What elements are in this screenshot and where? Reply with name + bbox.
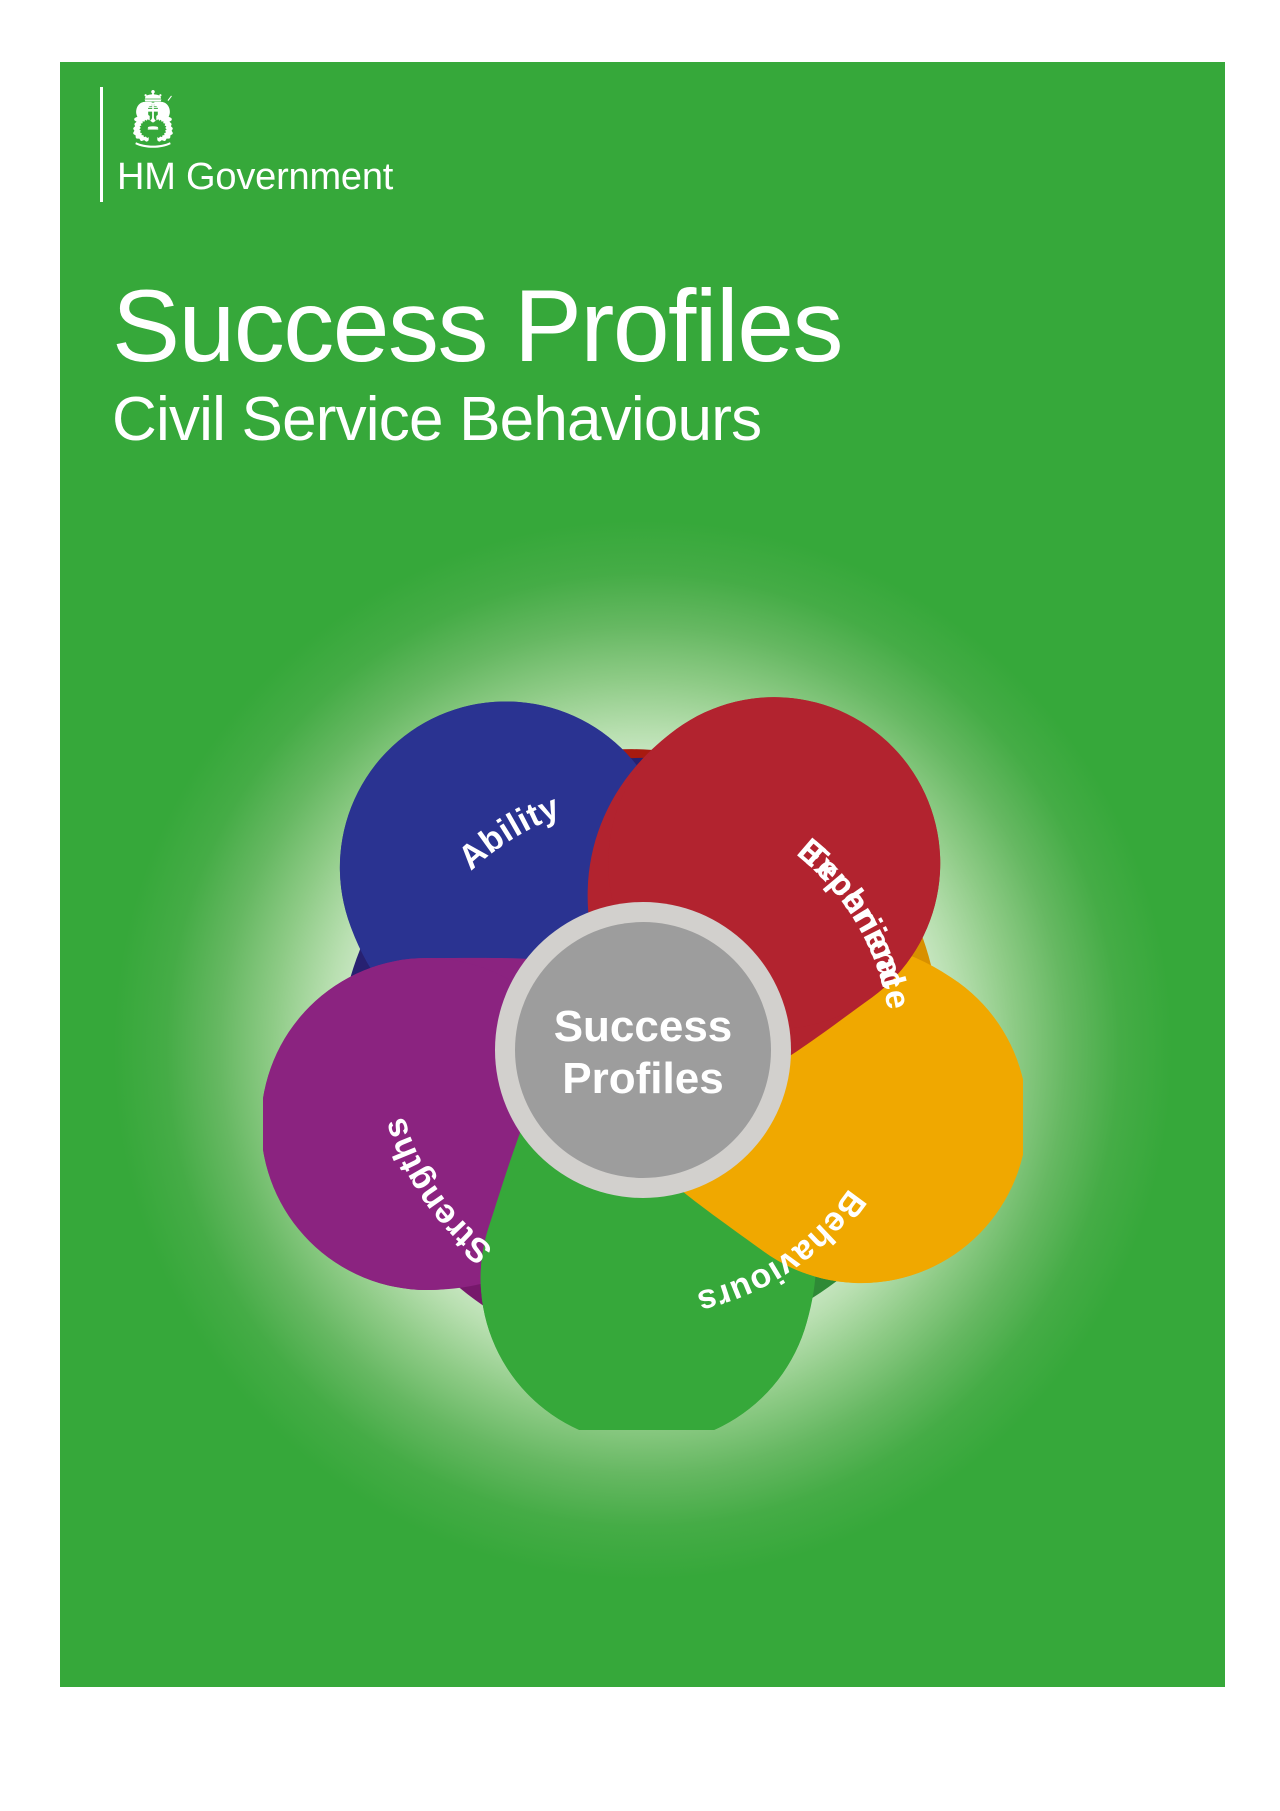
title-block: Success Profiles Civil Service Behaviour… [112,274,842,458]
cover-page: HM Government Success Profiles Civil Ser… [0,0,1280,1811]
hm-government-logo: HM Government [100,87,393,202]
page-title: Success Profiles [112,274,842,378]
center-label-line1: Success [553,1002,732,1051]
royal-coat-of-arms-crest-icon [117,87,189,153]
page-subtitle: Civil Service Behaviours [112,382,842,458]
wheel-center-hub: Success Profiles [495,902,791,1198]
success-profiles-wheel: Ability Technical Behaviours Strengths E… [263,670,1023,1430]
success-profiles-diagram: Ability Technical Behaviours Strengths E… [263,670,1023,1430]
hm-government-wordmark: HM Government [117,155,393,199]
green-cover-panel: HM Government Success Profiles Civil Ser… [60,62,1225,1687]
center-label-line2: Profiles [562,1054,723,1103]
logo-divider-rule [100,87,103,202]
